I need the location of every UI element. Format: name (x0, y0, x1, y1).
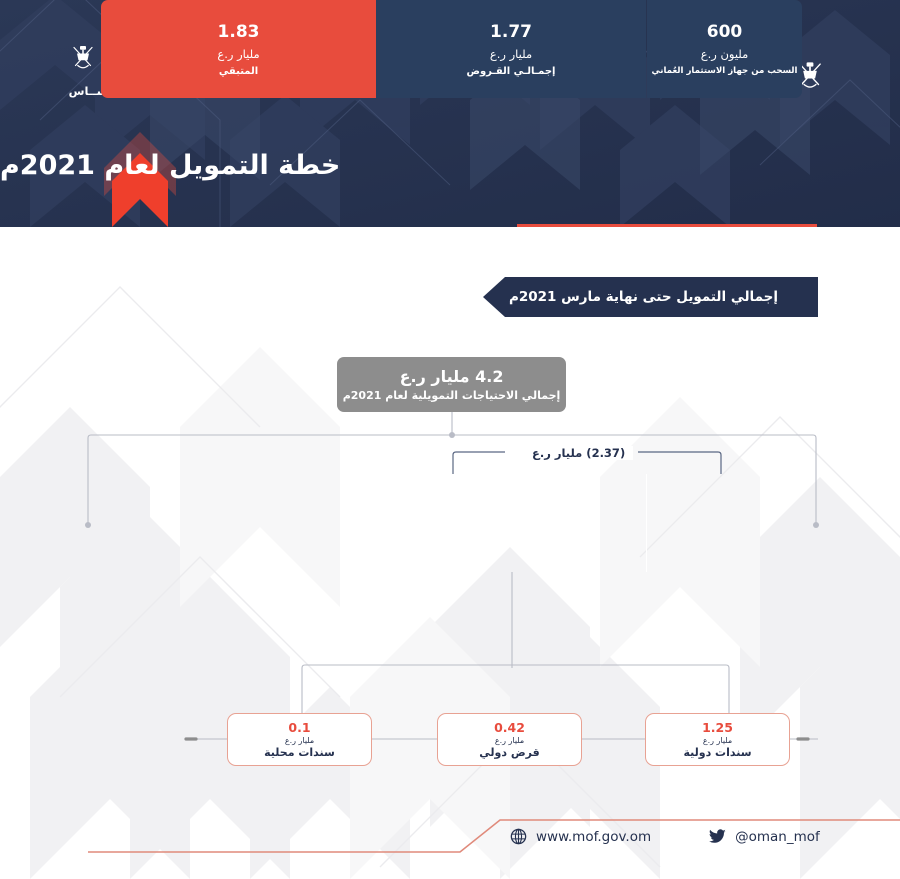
sub-box-international-loan: 0.42 مليار ر.ع قرض دولي (437, 713, 582, 766)
main-box-total-loans-name: إجمـالـي القـروض (467, 66, 556, 77)
main-box-total-loans-value: 1.77 (490, 22, 532, 42)
main-box-remaining-unit: مليار ر.ع (217, 47, 259, 61)
main-box-oia-unit: مليون ر.ع (701, 47, 749, 61)
sub-box-international-bonds: 1.25 مليار ر.ع سندات دولية (645, 713, 790, 766)
sub-box-international-bonds-unit: مليار ر.ع (703, 736, 732, 745)
total-requirement-label: إجمالي الاحتياجات التمويلية لعام 2021م (343, 389, 561, 402)
total-requirement-value: 4.2 مليار ر.ع (400, 367, 504, 386)
sub-box-international-loan-unit: مليار ر.ع (495, 736, 524, 745)
main-box-oia-value: 600 (707, 22, 743, 42)
main-box-remaining-name: المتبقي (219, 66, 258, 77)
body-chevron-watermark (0, 227, 900, 879)
oman-emblem-icon (68, 43, 98, 73)
section-banner: إجمالي التمويل حتى نهاية مارس 2021م (483, 277, 818, 317)
footer-website[interactable]: www.mof.gov.om (510, 828, 651, 845)
sub-box-local-bonds-name: سندات محلية (264, 746, 335, 759)
footer-twitter-label: @oman_mof (735, 829, 820, 845)
main-box-total-loans: 1.77 مليار ر.ع إجمـالـي القـروض (376, 0, 646, 98)
sub-box-local-bonds-value: 0.1 (288, 720, 310, 735)
footer-links: www.mof.gov.om @oman_mof (510, 828, 820, 845)
sub-box-international-bonds-name: سندات دولية (683, 746, 751, 759)
main-box-remaining: 1.83 مليار ر.ع المتبقي (101, 0, 376, 98)
sub-box-local-bonds: 0.1 مليار ر.ع سندات محلية (227, 713, 372, 766)
sub-box-international-bonds-value: 1.25 (702, 720, 733, 735)
globe-icon (510, 828, 527, 845)
main-box-remaining-value: 1.83 (218, 22, 260, 42)
sub-box-local-bonds-unit: مليار ر.ع (285, 736, 314, 745)
main-row-divider-2 (376, 474, 377, 572)
main-box-oia-name: السحب من جهاز الاستثمار العُماني (652, 66, 798, 76)
total-requirement-box: 4.2 مليار ر.ع إجمالي الاحتياجات التمويلي… (337, 357, 566, 412)
sub-box-international-loan-name: قرض دولي (479, 746, 539, 759)
sub-box-international-loan-value: 0.42 (494, 720, 525, 735)
infographic-page: 2021 الميزانيــة العامة للدولة ميزانيـة … (0, 0, 900, 879)
twitter-icon (709, 829, 726, 844)
page-title: خطة التمويل لعام 2021م (0, 150, 817, 181)
section-banner-label: إجمالي التمويل حتى نهاية مارس 2021م (509, 289, 792, 305)
footer-website-label: www.mof.gov.om (536, 829, 651, 845)
main-box-oia-withdrawal: 600 مليون ر.ع السحب من جهاز الاستثمار ال… (647, 0, 802, 98)
financed-subtotal-label: (2.37) مليار ر.ع (524, 446, 633, 460)
footer-twitter[interactable]: @oman_mof (709, 829, 820, 845)
main-row-divider-1 (646, 474, 647, 572)
main-box-total-loans-unit: مليار ر.ع (490, 47, 532, 61)
